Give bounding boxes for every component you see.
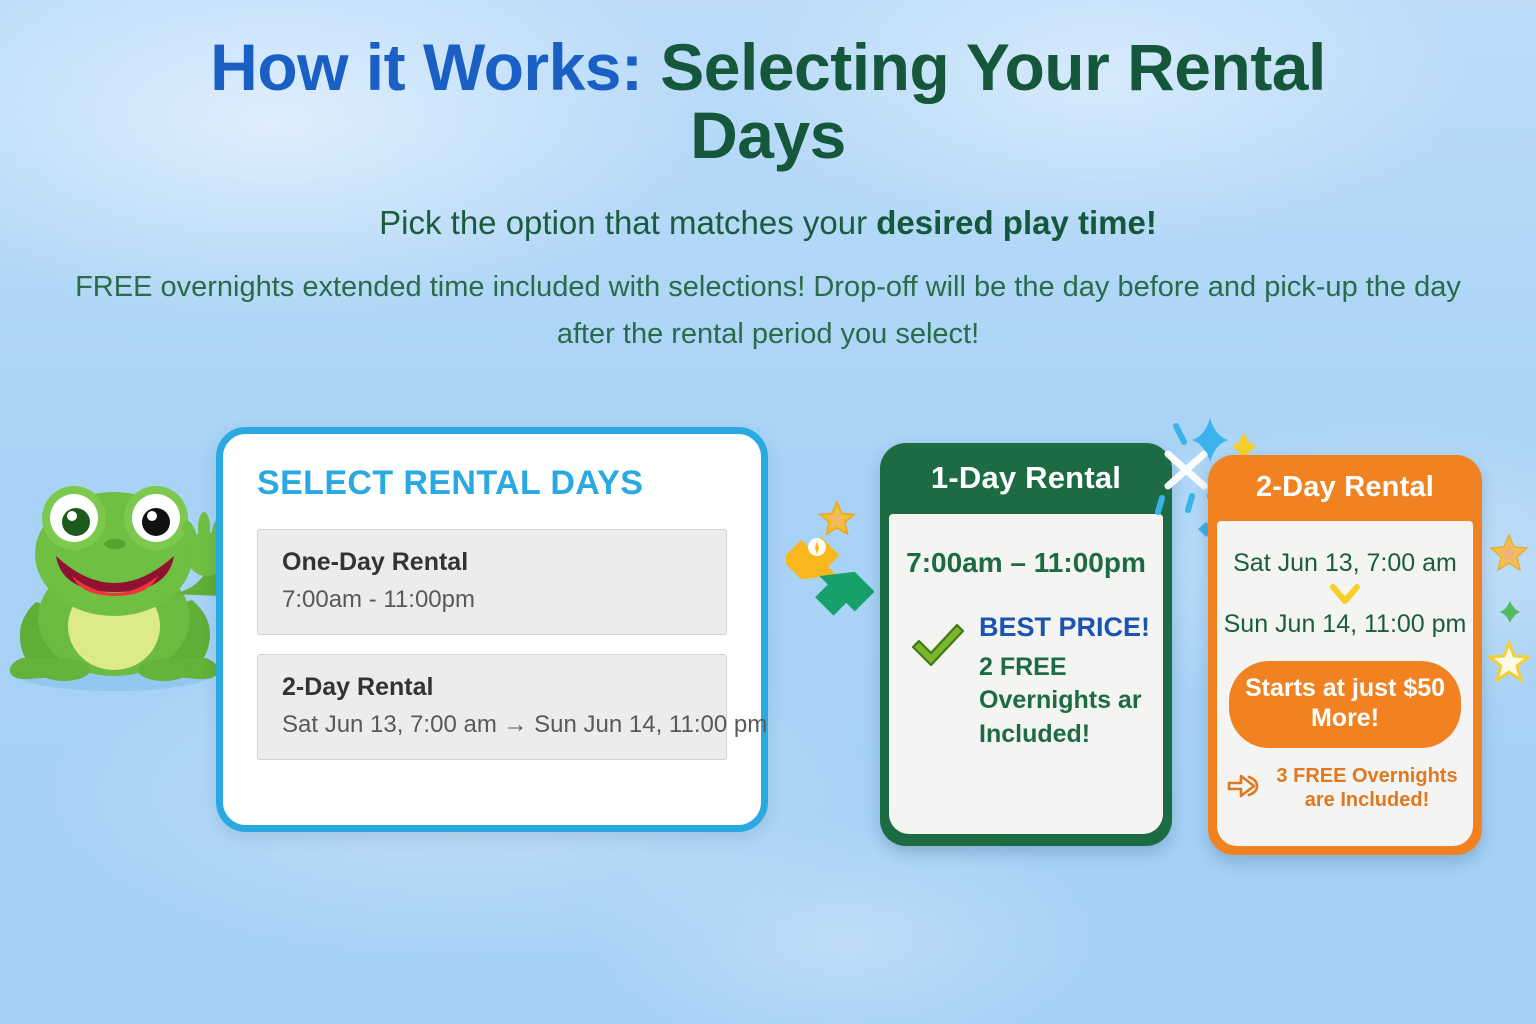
one-day-card-body: 7:00am – 11:00pm BEST PRICE! 2 FREE Over…: [889, 514, 1163, 834]
one-day-rental-card[interactable]: 1-Day Rental 7:00am – 11:00pm BEST PRICE…: [880, 443, 1172, 846]
two-day-card-body: Sat Jun 13, 7:00 am Sun Jun 14, 11:00 pm…: [1217, 521, 1473, 846]
rental-option-label: One-Day Rental: [282, 548, 702, 577]
rental-option-two-day[interactable]: 2-Day Rental Sat Jun 13, 7:00 am → Sun J…: [257, 654, 727, 760]
two-day-rental-card[interactable]: 2-Day Rental Sat Jun 13, 7:00 am Sun Jun…: [1208, 455, 1482, 855]
chevron-down-icon: [1217, 582, 1473, 608]
one-day-time-range: 7:00am – 11:00pm: [889, 547, 1163, 579]
star-icon: [1498, 600, 1522, 629]
page-title-green-part: Selecting Your Rental Days: [642, 30, 1325, 172]
page-title: How it Works: Selecting Your Rental Days: [0, 34, 1536, 170]
two-day-end-date: Sun Jun 14, 11:00 pm: [1217, 610, 1473, 639]
one-day-overnights-note: 2 FREE Overnights ar Included!: [979, 651, 1163, 752]
two-day-card-heading: 2-Day Rental: [1217, 455, 1473, 521]
select-rental-days-card[interactable]: SELECT RENTAL DAYS One-Day Rental 7:00am…: [216, 427, 768, 832]
star-icon: [1488, 532, 1530, 579]
one-day-card-heading: 1-Day Rental: [889, 443, 1163, 514]
subtitle-secondary: FREE overnights extended time included w…: [0, 264, 1536, 358]
select-card-title: SELECT RENTAL DAYS: [257, 464, 727, 503]
rental-option-detail: Sat Jun 13, 7:00 am → Sun Jun 14, 11:00 …: [282, 711, 702, 739]
rental-option-label: 2-Day Rental: [282, 673, 702, 702]
star-icon: [1487, 640, 1531, 689]
page-title-blue-part: How it Works:: [210, 30, 642, 104]
frog-mascot: [6, 482, 221, 702]
one-day-claim-text: BEST PRICE! 2 FREE Overnights ar Include…: [979, 613, 1163, 751]
two-day-start-date: Sat Jun 13, 7:00 am: [1217, 549, 1473, 578]
check-icon: [907, 615, 969, 682]
pointing-hand-icon: [1225, 771, 1261, 806]
rental-option-one-day[interactable]: One-Day Rental 7:00am - 11:00pm: [257, 529, 727, 635]
star-icon: [818, 500, 856, 543]
two-day-footnote: 3 FREE Overnights are Included!: [1217, 764, 1473, 812]
header: How it Works: Selecting Your Rental Days…: [0, 34, 1536, 358]
best-price-badge: BEST PRICE!: [979, 613, 1163, 643]
one-day-claim: BEST PRICE! 2 FREE Overnights ar Include…: [889, 613, 1163, 751]
rental-option-detail: 7:00am - 11:00pm: [282, 586, 702, 614]
subtitle-primary-lead: Pick the option that matches your: [379, 204, 876, 241]
two-day-footnote-text: 3 FREE Overnights are Included!: [1269, 764, 1465, 812]
arrow-icon: [810, 567, 874, 634]
arrow-icon: [786, 537, 848, 598]
subtitle-primary: Pick the option that matches your desire…: [0, 204, 1536, 242]
two-day-cta-button[interactable]: Starts at just $50 More!: [1229, 661, 1461, 748]
subtitle-primary-emphasis: desired play time!: [876, 204, 1157, 241]
